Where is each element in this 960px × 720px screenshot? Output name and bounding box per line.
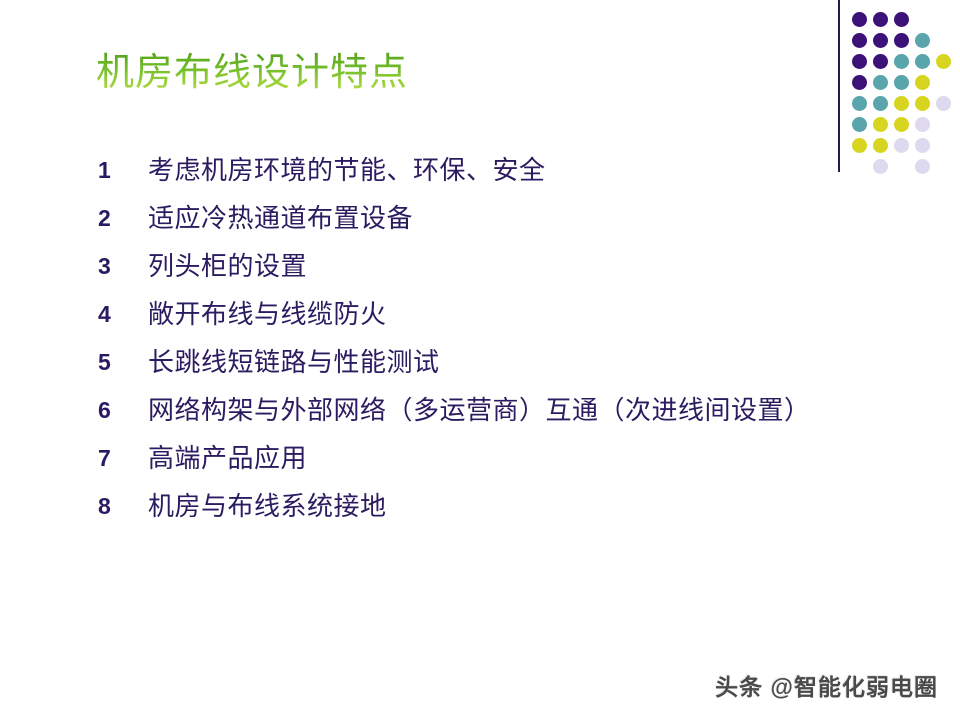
dot-grid-graphic [852, 12, 957, 172]
corner-decoration [838, 0, 960, 180]
list-item-text: 机房与布线系统接地 [148, 488, 888, 525]
decoration-dot [894, 12, 909, 27]
list-item-text: 考虑机房环境的节能、环保、安全 [148, 152, 888, 189]
decoration-dot [852, 33, 867, 48]
decoration-dot [915, 138, 930, 153]
watermark-label: 头条 @智能化弱电圈 [715, 668, 938, 702]
decoration-dot [894, 138, 909, 153]
decoration-dot [915, 33, 930, 48]
decoration-dot [915, 96, 930, 111]
decoration-dot [894, 75, 909, 90]
list-item: 8机房与布线系统接地 [98, 488, 888, 525]
list-item: 6网络构架与外部网络（多运营商）互通（次进线间设置） [98, 392, 888, 429]
feature-list: 1考虑机房环境的节能、环保、安全2适应冷热通道布置设备3列头柜的设置4敞开布线与… [98, 152, 888, 536]
decoration-dot [873, 117, 888, 132]
list-item: 2适应冷热通道布置设备 [98, 200, 888, 237]
list-item: 4敞开布线与线缆防火 [98, 296, 888, 333]
list-item: 7高端产品应用 [98, 440, 888, 477]
list-item: 5长跳线短链路与性能测试 [98, 344, 888, 381]
vertical-rule-divider [838, 0, 840, 172]
decoration-dot [915, 75, 930, 90]
list-item-number: 5 [98, 344, 148, 381]
list-item-text: 长跳线短链路与性能测试 [148, 344, 888, 381]
decoration-dot [873, 159, 888, 174]
page-title: 机房布线设计特点 [96, 48, 408, 98]
decoration-dot [894, 96, 909, 111]
decoration-dot [936, 54, 951, 69]
decoration-dot [852, 96, 867, 111]
list-item-number: 1 [98, 152, 148, 189]
decoration-dot [852, 54, 867, 69]
slide-canvas: 机房布线设计特点 1考虑机房环境的节能、环保、安全2适应冷热通道布置设备3列头柜… [0, 0, 960, 720]
list-item: 1考虑机房环境的节能、环保、安全 [98, 152, 888, 189]
decoration-dot [852, 75, 867, 90]
decoration-dot [936, 96, 951, 111]
decoration-dot [852, 117, 867, 132]
list-item-number: 3 [98, 248, 148, 285]
list-item-number: 6 [98, 392, 148, 429]
decoration-dot [873, 33, 888, 48]
list-item-text: 高端产品应用 [148, 440, 888, 477]
decoration-dot [873, 12, 888, 27]
decoration-dot [915, 54, 930, 69]
list-item-text: 网络构架与外部网络（多运营商）互通（次进线间设置） [148, 392, 888, 429]
list-item: 3列头柜的设置 [98, 248, 888, 285]
decoration-dot [852, 12, 867, 27]
list-item-text: 列头柜的设置 [148, 248, 888, 285]
decoration-dot [873, 138, 888, 153]
decoration-dot [894, 54, 909, 69]
list-item-text: 适应冷热通道布置设备 [148, 200, 888, 237]
list-item-text: 敞开布线与线缆防火 [148, 296, 888, 333]
list-item-number: 2 [98, 200, 148, 237]
decoration-dot [894, 33, 909, 48]
decoration-dot [915, 117, 930, 132]
list-item-number: 4 [98, 296, 148, 333]
decoration-dot [915, 159, 930, 174]
decoration-dot [852, 138, 867, 153]
decoration-dot [873, 96, 888, 111]
decoration-dot [873, 54, 888, 69]
list-item-number: 7 [98, 440, 148, 477]
list-item-number: 8 [98, 488, 148, 525]
decoration-dot [894, 117, 909, 132]
decoration-dot [873, 75, 888, 90]
